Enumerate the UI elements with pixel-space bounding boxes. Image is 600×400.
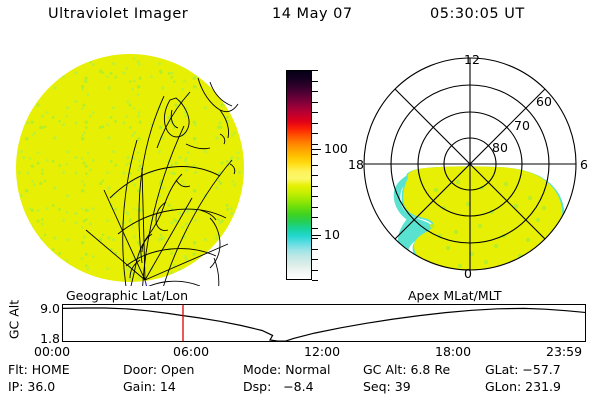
colorbar-tick xyxy=(312,207,318,208)
colorbar-tick xyxy=(312,144,318,145)
orbit-caption-apex: Apex MLat/MLT xyxy=(408,288,502,303)
colorbar-panel: photon cm-2s-1 10010 xyxy=(252,60,344,290)
globe-image-panel xyxy=(14,48,246,286)
colorbar-gradient-fill xyxy=(287,71,311,279)
aurora-oval-patch xyxy=(394,166,565,276)
colorbar-tick xyxy=(312,196,318,197)
colorbar-tick xyxy=(312,175,318,176)
status-field: Flt: HOME xyxy=(8,364,70,377)
colorbar-tick xyxy=(312,91,318,92)
status-field: GLon: 231.9 xyxy=(485,381,561,394)
status-field: IP: 36.0 xyxy=(8,381,55,394)
polar-mlt-label: 18 xyxy=(348,159,364,172)
colorbar-tick xyxy=(312,154,318,155)
colorbar-tick xyxy=(312,81,318,82)
aurora-speckle-dot xyxy=(430,224,434,228)
colorbar-tick xyxy=(312,112,318,113)
orbit-x-tick-label: 18:00 xyxy=(435,346,471,359)
colorbar-tick xyxy=(312,186,318,187)
polar-dial-plot xyxy=(340,40,600,290)
colorbar-tick xyxy=(312,165,318,166)
header-bar: Ultraviolet Imager 14 May 07 05:30:05 UT xyxy=(0,6,600,28)
aurora-speckle-dot xyxy=(434,188,438,192)
status-field: Seq: 39 xyxy=(363,381,411,394)
status-field: Dsp: −8.4 xyxy=(243,381,314,394)
colorbar-tick xyxy=(312,259,318,260)
aurora-speckle-dot xyxy=(478,224,482,228)
colorbar-tick xyxy=(312,133,318,134)
status-field: GLat: −57.7 xyxy=(485,364,561,377)
colorbar-tick xyxy=(312,70,318,71)
orbit-x-tick-label: 12:00 xyxy=(304,346,340,359)
colorbar-tick-major xyxy=(312,149,321,150)
status-field: Door: Open xyxy=(123,364,194,377)
orbit-y-tick-label: 9.0 xyxy=(40,302,60,315)
aurora-speckle-dot xyxy=(504,182,508,186)
polar-dial-panel: 126018607080 xyxy=(340,40,600,290)
orbit-altitude-panel: GC Alt 9.01.8 Geographic Lat/Lon Apex ML… xyxy=(0,288,600,356)
polar-mlt-label: 6 xyxy=(580,159,588,172)
aurora-speckle-dot xyxy=(484,260,488,264)
polar-latitude-label: 60 xyxy=(536,96,552,109)
aurora-speckle-dot xyxy=(542,206,546,210)
colorbar-tick xyxy=(312,217,318,218)
polar-mlt-label: 0 xyxy=(464,268,472,281)
orbit-x-tick-label: 00:00 xyxy=(34,346,70,359)
status-block: Flt: HOMEDoor: OpenMode: NormalGC Alt: 6… xyxy=(0,362,600,400)
colorbar-tick xyxy=(312,280,318,281)
polar-grid xyxy=(364,58,576,270)
colorbar-gradient xyxy=(286,70,312,280)
polar-latitude-label: 70 xyxy=(514,120,530,133)
colorbar-tick xyxy=(312,249,318,250)
aurora-speckle-dot xyxy=(456,180,460,184)
polar-mlt-label: 12 xyxy=(464,54,480,67)
status-field: Mode: Normal xyxy=(243,364,330,377)
orbit-caption-geographic: Geographic Lat/Lon xyxy=(66,288,188,303)
status-field: GC Alt: 6.8 Re xyxy=(363,364,450,377)
colorbar-tick xyxy=(312,102,318,103)
aurora-speckle-dot xyxy=(536,218,540,222)
colorbar-tick xyxy=(312,270,318,271)
aurora-speckle-dot xyxy=(454,230,458,234)
aurora-speckle-dot xyxy=(514,204,518,208)
colorbar-tick xyxy=(312,228,318,229)
colorbar-tick-major xyxy=(312,235,321,236)
aurora-speckle-dot xyxy=(494,244,498,248)
polar-latitude-label: 80 xyxy=(492,142,508,155)
status-field: Gain: 14 xyxy=(123,381,176,394)
instrument-title: Ultraviolet Imager xyxy=(48,6,188,22)
aurora-speckle-dot xyxy=(528,196,532,200)
colorbar-tick xyxy=(312,238,318,239)
aurora-speckle-dot xyxy=(526,238,530,242)
observation-time: 05:30:05 UT xyxy=(430,6,525,22)
orbit-altitude-curve xyxy=(63,305,586,342)
orbit-x-tick-label: 23:59 xyxy=(546,346,582,359)
observation-date: 14 May 07 xyxy=(272,6,353,22)
coastline-graticule-overlay xyxy=(14,48,246,286)
orbit-plot-area xyxy=(62,304,586,342)
colorbar-tick xyxy=(312,123,318,124)
colorbar-tick-label: 10 xyxy=(324,229,340,242)
aurora-speckle-dot xyxy=(446,246,450,250)
aurora-speckle-dot xyxy=(508,266,512,270)
orbit-x-tick-label: 06:00 xyxy=(173,346,209,359)
aurora-speckle-dot xyxy=(458,264,462,268)
